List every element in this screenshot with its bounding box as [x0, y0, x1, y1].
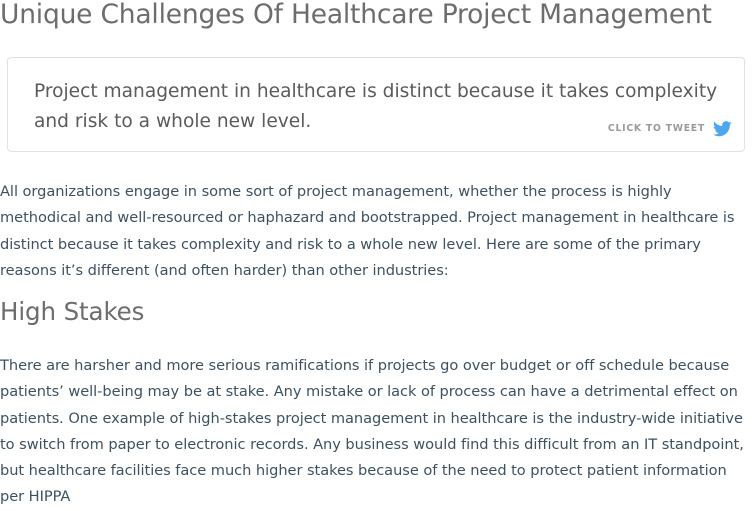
click-to-tweet-label: CLICK TO TWEET	[608, 124, 705, 133]
article-page: Unique Challenges Of Healthcare Project …	[0, 0, 752, 476]
high-stakes-paragraph: There are harsher and more serious ramif…	[0, 353, 748, 511]
section-heading-high-stakes: High Stakes	[0, 296, 144, 328]
intro-paragraph: All organizations engage in some sort of…	[0, 179, 748, 284]
click-to-tweet-box[interactable]: Project management in healthcare is dist…	[7, 57, 745, 152]
page-title: Unique Challenges Of Healthcare Project …	[0, 0, 752, 32]
twitter-bird-icon[interactable]	[713, 121, 732, 137]
click-to-tweet-button[interactable]: CLICK TO TWEET	[608, 121, 732, 137]
